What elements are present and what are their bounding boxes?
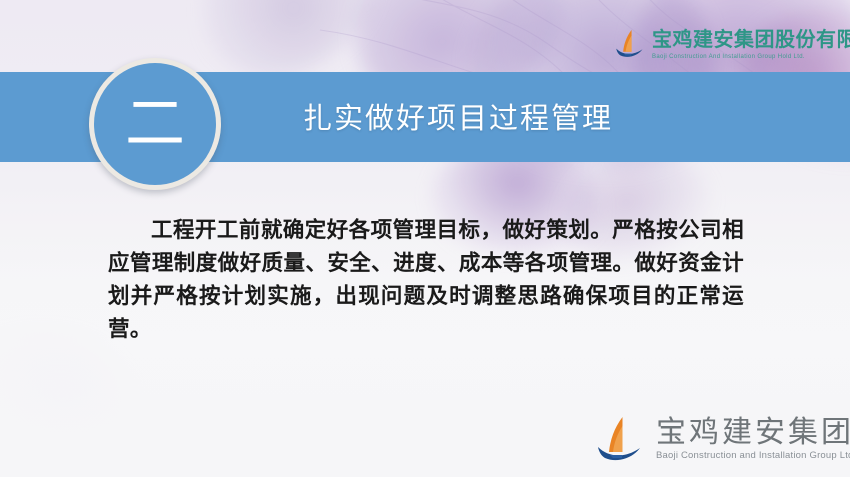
sailboat-logo-icon: [612, 28, 648, 58]
section-title: 扎实做好项目过程管理: [248, 98, 668, 138]
section-number-badge: 二: [89, 58, 221, 190]
footer-company-name-cn: 宝鸡建安集团: [656, 416, 850, 449]
section-number-label: 二: [125, 94, 185, 154]
header-company-name-cn: 宝鸡建安集团股份有限公司: [652, 28, 850, 51]
slide-canvas: 二 扎实做好项目过程管理 宝鸡建安集团股份有限公司 Baoji Construc…: [0, 0, 850, 477]
footer-logo-wordmark: 宝鸡建安集团 Baoji Construction and Installati…: [656, 414, 850, 462]
header-company-logo: 宝鸡建安集团股份有限公司 Baoji Construction And Inst…: [612, 28, 850, 62]
sailboat-logo-icon: [592, 414, 648, 462]
footer-company-name-en: Baoji Construction and Installation Grou…: [656, 450, 850, 462]
header-logo-wordmark: 宝鸡建安集团股份有限公司 Baoji Construction And Inst…: [652, 28, 850, 62]
footer-company-logo: 宝鸡建安集团 Baoji Construction and Installati…: [592, 414, 850, 462]
body-paragraph: 工程开工前就确定好各项管理目标，做好策划。严格按公司相应管理制度做好质量、安全、…: [108, 214, 744, 346]
header-company-name-en: Baoji Construction And Installation Grou…: [652, 53, 850, 62]
